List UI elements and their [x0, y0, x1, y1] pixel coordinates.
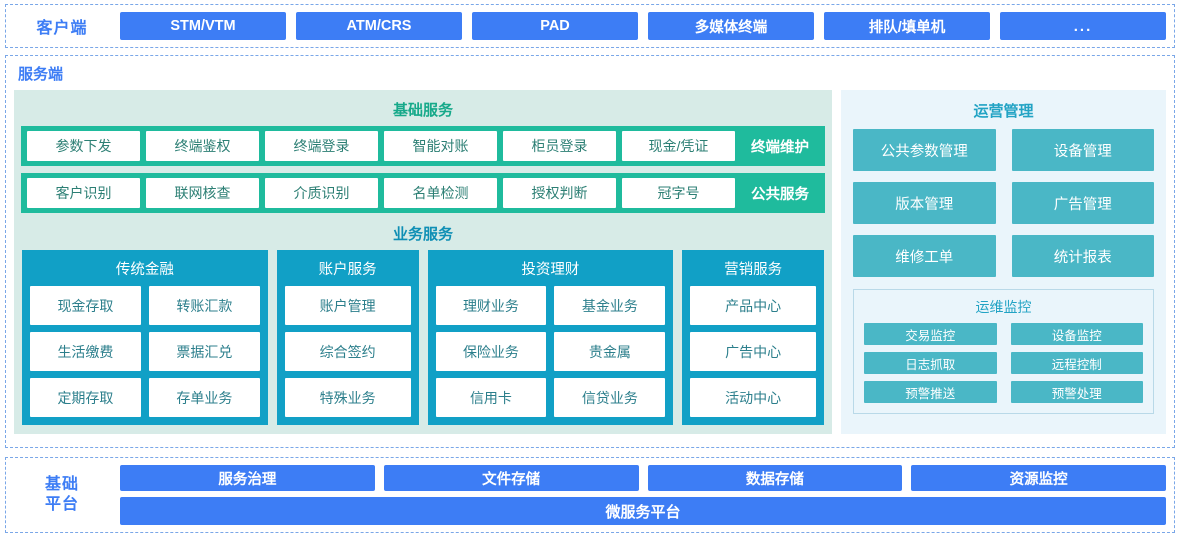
service-cell-crown-number[interactable]: 冠字号 — [622, 178, 735, 208]
monitoring-row: 日志抓取 远程控制 — [864, 352, 1143, 374]
operations-monitoring-box: 运维监控 交易监控 设备监控 日志抓取 远程控制 预警推送 预警处理 — [853, 289, 1154, 414]
platform-layer-section: 基础 平台 服务治理 文件存储 数据存储 资源监控 微服务平台 — [5, 457, 1175, 533]
platform-layer-title: 基础 平台 — [14, 475, 110, 515]
basic-service-band-public-service: 客户识别 联网核查 介质识别 名单检测 授权判断 冠字号 公共服务 — [21, 173, 825, 213]
biz-cell-comprehensive-signing[interactable]: 综合签约 — [285, 332, 411, 371]
biz-cell-product-center[interactable]: 产品中心 — [690, 286, 816, 325]
platform-chips-wrapper: 服务治理 文件存储 数据存储 资源监控 微服务平台 — [120, 465, 1166, 525]
monitor-cell-alert-handling[interactable]: 预警处理 — [1011, 381, 1144, 403]
operations-monitoring-title: 运维监控 — [864, 296, 1143, 323]
biz-cell-advertising-center[interactable]: 广告中心 — [690, 332, 816, 371]
monitor-cell-transaction-monitoring[interactable]: 交易监控 — [864, 323, 997, 345]
group-grid-traditional-finance: 现金存取 生活缴费 定期存取 转账汇款 票据汇兑 存单业务 — [30, 286, 260, 417]
biz-cell-credit-business[interactable]: 信贷业务 — [554, 378, 665, 417]
operations-grid: 公共参数管理 设备管理 版本管理 广告管理 维修工单 统计报表 — [853, 129, 1154, 277]
server-layer-body: 基础服务 参数下发 终端鉴权 终端登录 智能对账 柜员登录 现金/凭证 终端维护… — [14, 90, 1166, 434]
business-group-account-service: 账户服务 账户管理 综合签约 特殊业务 — [277, 250, 419, 425]
group-grid-investment: 理财业务 保险业务 信用卡 基金业务 贵金属 信贷业务 — [436, 286, 666, 417]
biz-cell-living-payment[interactable]: 生活缴费 — [30, 332, 141, 371]
service-cell-teller-login[interactable]: 柜员登录 — [503, 131, 616, 161]
biz-cell-insurance[interactable]: 保险业务 — [436, 332, 547, 371]
group-column: 账户管理 综合签约 特殊业务 — [285, 286, 411, 417]
group-title-investment: 投资理财 — [436, 255, 666, 286]
service-cell-terminal-login[interactable]: 终端登录 — [265, 131, 378, 161]
biz-cell-fixed-deposit[interactable]: 定期存取 — [30, 378, 141, 417]
biz-cell-credit-card[interactable]: 信用卡 — [436, 378, 547, 417]
client-chip-stm-vtm[interactable]: STM/VTM — [120, 12, 286, 40]
platform-title-line2: 平台 — [14, 495, 110, 515]
group-column: 转账汇款 票据汇兑 存单业务 — [149, 286, 260, 417]
biz-cell-precious-metals[interactable]: 贵金属 — [554, 332, 665, 371]
ops-cell-maintenance-work-order[interactable]: 维修工单 — [853, 235, 996, 277]
service-cell-terminal-auth[interactable]: 终端鉴权 — [146, 131, 259, 161]
monitoring-row: 交易监控 设备监控 — [864, 323, 1143, 345]
business-service-title: 业务服务 — [21, 220, 825, 250]
server-layer-title: 服务端 — [18, 63, 1166, 84]
operations-monitoring-grid: 交易监控 设备监控 日志抓取 远程控制 预警推送 预警处理 — [864, 323, 1143, 403]
platform-chip-service-governance[interactable]: 服务治理 — [120, 465, 375, 491]
business-service-wrapper: 业务服务 传统金融 现金存取 生活缴费 定期存取 — [21, 220, 825, 427]
client-chip-multimedia-terminal[interactable]: 多媒体终端 — [648, 12, 814, 40]
platform-chip-data-storage[interactable]: 数据存储 — [648, 465, 903, 491]
business-group-traditional-finance: 传统金融 现金存取 生活缴费 定期存取 转账汇款 票据汇兑 — [22, 250, 268, 425]
service-cell-media-recognition[interactable]: 介质识别 — [265, 178, 378, 208]
biz-cell-account-management[interactable]: 账户管理 — [285, 286, 411, 325]
group-grid-marketing: 产品中心 广告中心 活动中心 — [690, 286, 816, 417]
biz-cell-cash-deposit-withdrawal[interactable]: 现金存取 — [30, 286, 141, 325]
monitor-cell-alert-push[interactable]: 预警推送 — [864, 381, 997, 403]
basic-and-business-services-panel: 基础服务 参数下发 终端鉴权 终端登录 智能对账 柜员登录 现金/凭证 终端维护… — [14, 90, 832, 434]
ops-cell-public-parameter-management[interactable]: 公共参数管理 — [853, 129, 996, 171]
operations-row: 公共参数管理 设备管理 — [853, 129, 1154, 171]
platform-chip-microservice-platform[interactable]: 微服务平台 — [120, 497, 1166, 525]
biz-cell-wealth-management[interactable]: 理财业务 — [436, 286, 547, 325]
ops-cell-device-management[interactable]: 设备管理 — [1012, 129, 1155, 171]
ops-cell-version-management[interactable]: 版本管理 — [853, 182, 996, 224]
basic-service-title: 基础服务 — [21, 96, 825, 126]
monitoring-row: 预警推送 预警处理 — [864, 381, 1143, 403]
monitor-cell-remote-control[interactable]: 远程控制 — [1011, 352, 1144, 374]
business-group-marketing: 营销服务 产品中心 广告中心 活动中心 — [682, 250, 824, 425]
platform-chip-file-storage[interactable]: 文件存储 — [384, 465, 639, 491]
client-layer-title: 客户端 — [14, 14, 110, 38]
biz-cell-special-business[interactable]: 特殊业务 — [285, 378, 411, 417]
band-label-public-service: 公共服务 — [741, 183, 819, 204]
group-column: 基金业务 贵金属 信贷业务 — [554, 286, 665, 417]
operations-row: 版本管理 广告管理 — [853, 182, 1154, 224]
operations-management-title: 运营管理 — [853, 96, 1154, 129]
architecture-diagram: 客户端 STM/VTM ATM/CRS PAD 多媒体终端 排队/填单机 ...… — [0, 0, 1180, 560]
group-title-marketing: 营销服务 — [690, 255, 816, 286]
client-chip-pad[interactable]: PAD — [472, 12, 638, 40]
group-column: 现金存取 生活缴费 定期存取 — [30, 286, 141, 417]
platform-chip-resource-monitoring[interactable]: 资源监控 — [911, 465, 1166, 491]
group-title-account-service: 账户服务 — [285, 255, 411, 286]
client-chip-atm-crs[interactable]: ATM/CRS — [296, 12, 462, 40]
ops-cell-advertising-management[interactable]: 广告管理 — [1012, 182, 1155, 224]
biz-cell-bill-exchange[interactable]: 票据汇兑 — [149, 332, 260, 371]
client-chip-queue-form-machine[interactable]: 排队/填单机 — [824, 12, 990, 40]
group-grid-account-service: 账户管理 综合签约 特殊业务 — [285, 286, 411, 417]
biz-cell-fund-business[interactable]: 基金业务 — [554, 286, 665, 325]
biz-cell-transfer-remittance[interactable]: 转账汇款 — [149, 286, 260, 325]
monitor-cell-device-monitoring[interactable]: 设备监控 — [1011, 323, 1144, 345]
platform-title-line1: 基础 — [14, 475, 110, 495]
monitor-cell-log-capture[interactable]: 日志抓取 — [864, 352, 997, 374]
operations-row: 维修工单 统计报表 — [853, 235, 1154, 277]
platform-chips-row: 服务治理 文件存储 数据存储 资源监控 — [120, 465, 1166, 491]
service-cell-customer-identification[interactable]: 客户识别 — [27, 178, 140, 208]
service-cell-online-verification[interactable]: 联网核查 — [146, 178, 259, 208]
service-cell-smart-reconciliation[interactable]: 智能对账 — [384, 131, 497, 161]
server-layer-section: 服务端 基础服务 参数下发 终端鉴权 终端登录 智能对账 柜员登录 现金/凭证 … — [5, 55, 1175, 448]
service-cell-list-detection[interactable]: 名单检测 — [384, 178, 497, 208]
band-label-terminal-maintenance: 终端维护 — [741, 136, 819, 157]
group-title-traditional-finance: 传统金融 — [30, 255, 260, 286]
service-cell-parameter-delivery[interactable]: 参数下发 — [27, 131, 140, 161]
group-column: 理财业务 保险业务 信用卡 — [436, 286, 547, 417]
biz-cell-certificate-deposit[interactable]: 存单业务 — [149, 378, 260, 417]
biz-cell-activity-center[interactable]: 活动中心 — [690, 378, 816, 417]
client-layer-section: 客户端 STM/VTM ATM/CRS PAD 多媒体终端 排队/填单机 ... — [5, 4, 1175, 48]
ops-cell-statistical-report[interactable]: 统计报表 — [1012, 235, 1155, 277]
business-service-groups: 传统金融 现金存取 生活缴费 定期存取 转账汇款 票据汇兑 — [21, 250, 825, 427]
service-cell-authorization-judgement[interactable]: 授权判断 — [503, 178, 616, 208]
business-group-investment: 投资理财 理财业务 保险业务 信用卡 基金业务 贵金属 — [428, 250, 674, 425]
basic-service-band-terminal-maintenance: 参数下发 终端鉴权 终端登录 智能对账 柜员登录 现金/凭证 终端维护 — [21, 126, 825, 166]
client-chip-more[interactable]: ... — [1000, 12, 1166, 40]
operations-management-panel: 运营管理 公共参数管理 设备管理 版本管理 广告管理 维修工单 统计报表 — [841, 90, 1166, 434]
group-column: 产品中心 广告中心 活动中心 — [690, 286, 816, 417]
service-cell-cash-voucher[interactable]: 现金/凭证 — [622, 131, 735, 161]
